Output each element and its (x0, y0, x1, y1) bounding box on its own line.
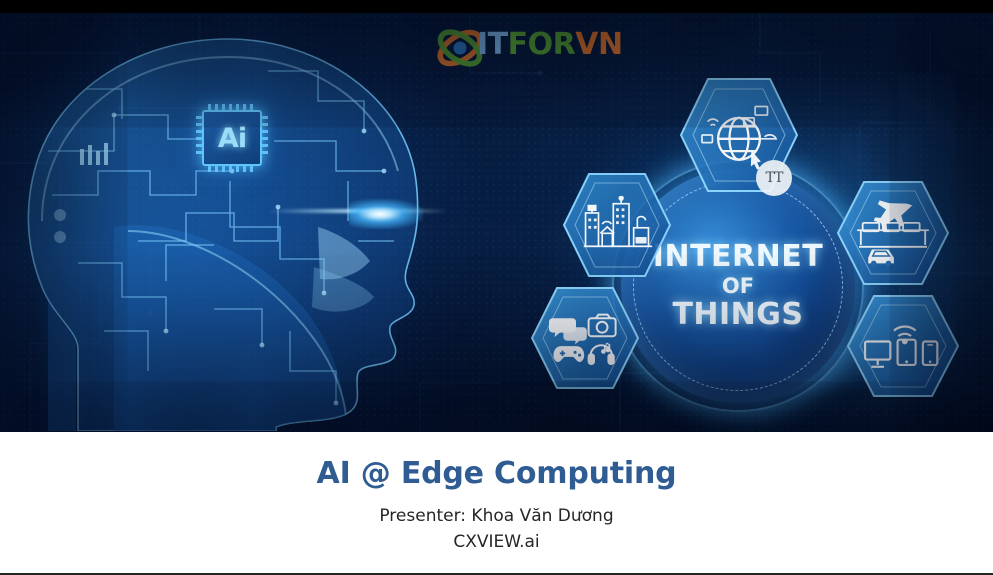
presenter-name: Presenter: Khoa Văn Dương (0, 506, 993, 526)
top-letterbox-bar (0, 0, 993, 13)
company-name: CXVIEW.ai (0, 532, 993, 552)
hero-vignette (0, 13, 993, 432)
caption-area: AI @ Edge Computing Presenter: Khoa Văn … (0, 432, 993, 575)
hero-image: Ai ITFORVN (0, 13, 993, 432)
page-title: AI @ Edge Computing (0, 456, 993, 491)
presentation-slide: Ai ITFORVN (0, 0, 993, 575)
